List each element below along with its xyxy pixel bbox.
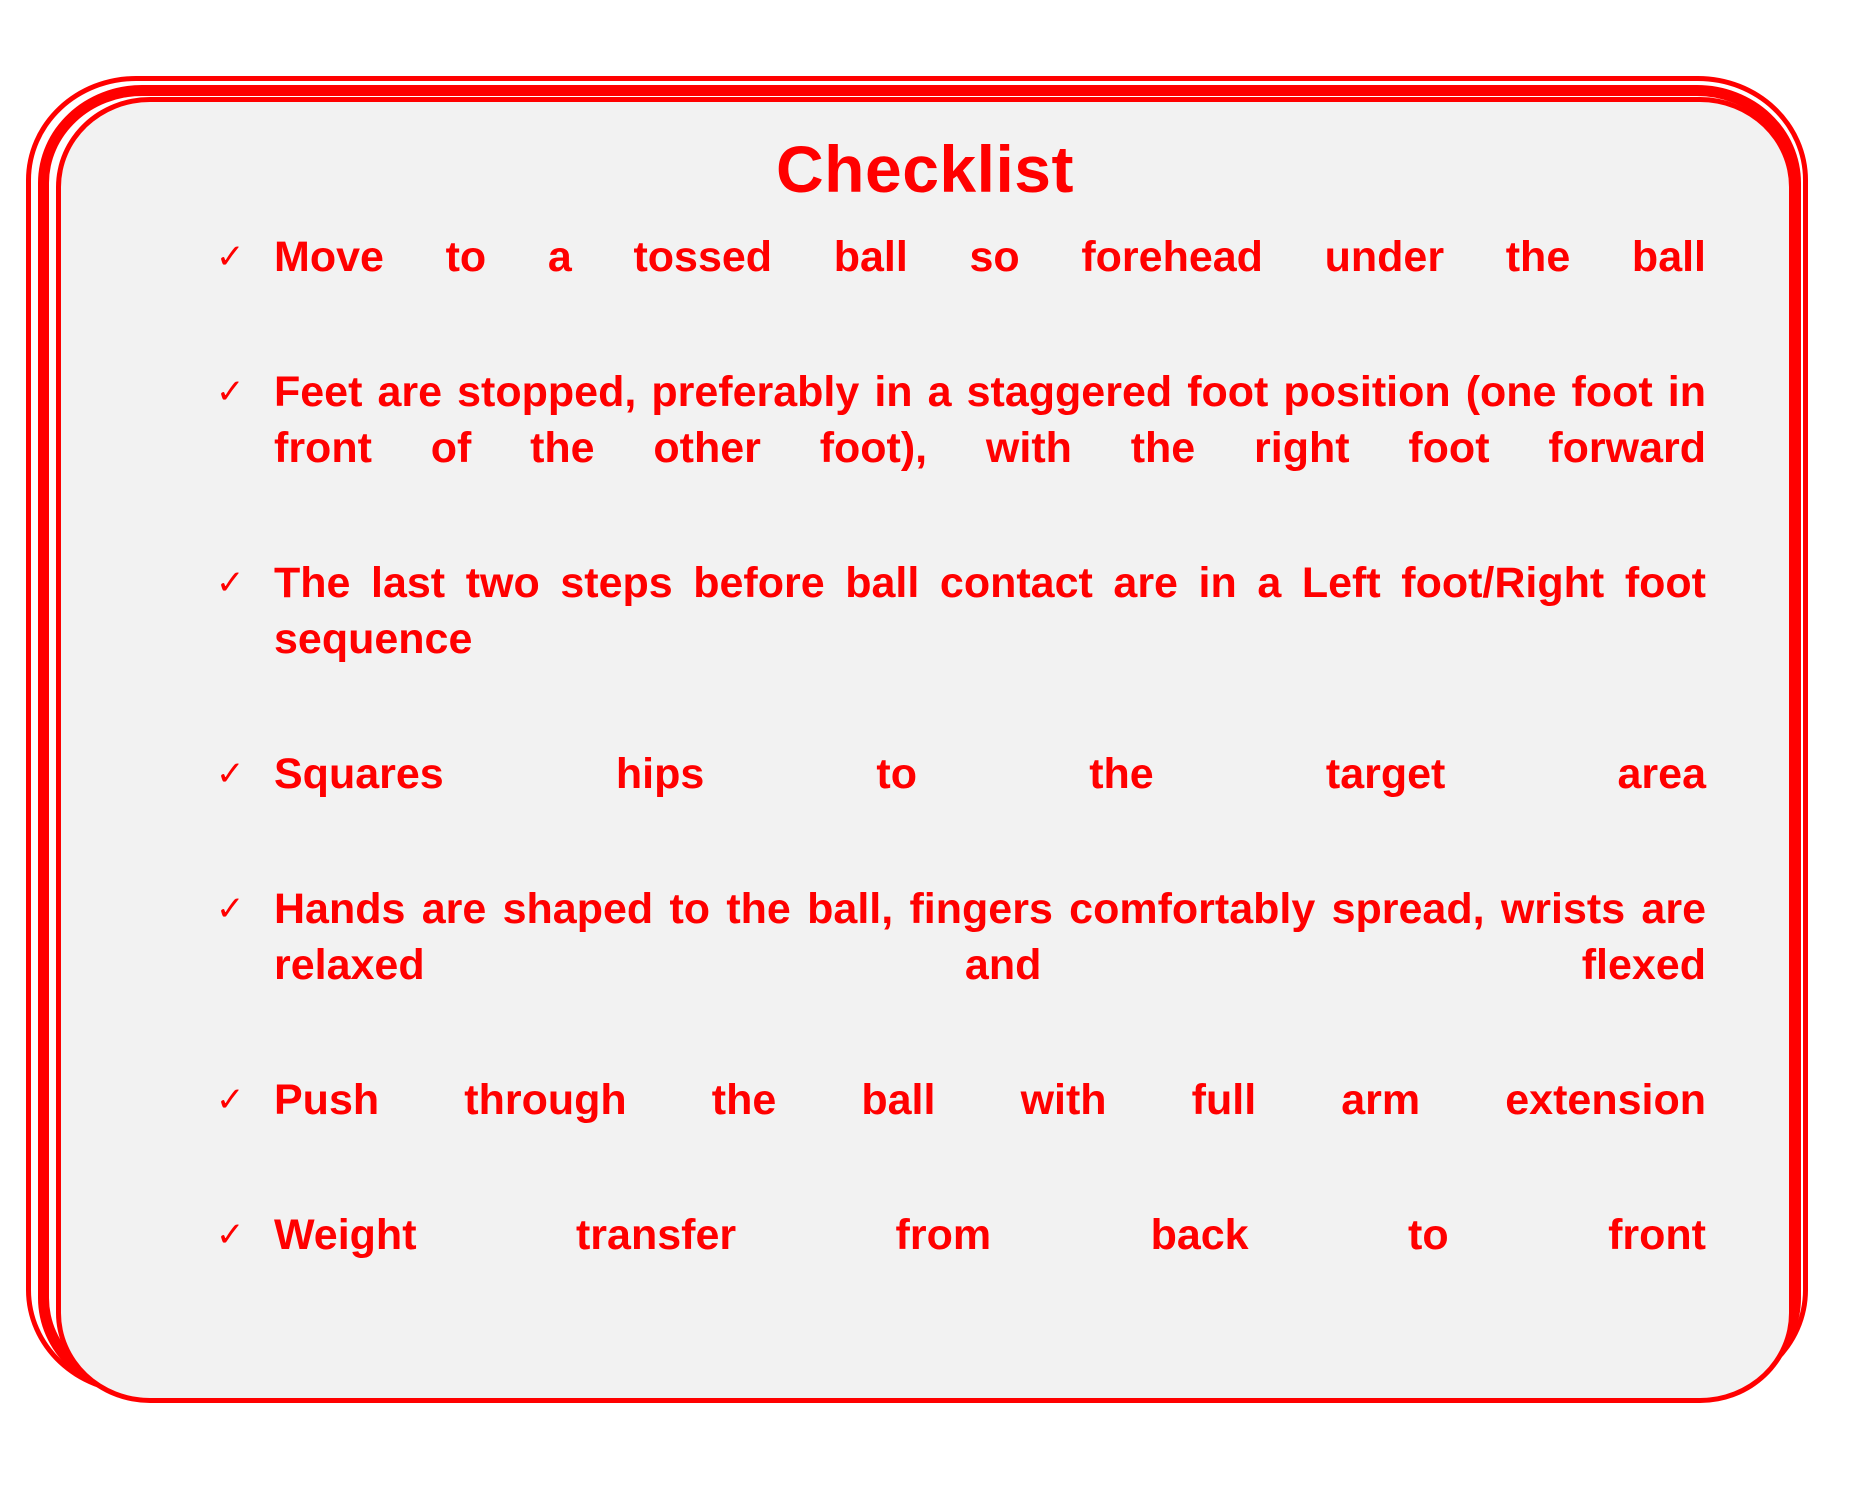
- page-title: Checklist: [118, 131, 1732, 207]
- check-icon: ✓: [216, 1207, 256, 1263]
- list-item: ✓ Move to a tossed ball so forehead unde…: [274, 229, 1706, 341]
- list-item: ✓ Hands are shaped to the ball, fingers …: [274, 881, 1706, 1049]
- check-icon: ✓: [216, 229, 256, 285]
- list-item-label: Feet are stopped, preferably in a stagge…: [274, 364, 1706, 532]
- slide-content: Checklist ✓ Move to a tossed ball so for…: [56, 97, 1794, 1403]
- list-item-label: Move to a tossed ball so forehead under …: [274, 229, 1706, 341]
- checklist: ✓ Move to a tossed ball so forehead unde…: [118, 229, 1732, 1319]
- list-item: ✓ Push through the ball with full arm ex…: [274, 1072, 1706, 1184]
- list-item: ✓ Weight transfer from back to front: [274, 1207, 1706, 1319]
- list-item: ✓ Feet are stopped, preferably in a stag…: [274, 364, 1706, 532]
- check-icon: ✓: [216, 555, 256, 611]
- list-item-label: Push through the ball with full arm exte…: [274, 1072, 1706, 1184]
- list-item-label: The last two steps before ball contact a…: [274, 555, 1706, 723]
- list-item: ✓ Squares hips to the target area: [274, 746, 1706, 858]
- check-icon: ✓: [216, 746, 256, 802]
- slide-canvas: Checklist ✓ Move to a tossed ball so for…: [0, 0, 1854, 1504]
- list-item: ✓ The last two steps before ball contact…: [274, 555, 1706, 723]
- list-item-label: Hands are shaped to the ball, fingers co…: [274, 881, 1706, 1049]
- check-icon: ✓: [216, 881, 256, 937]
- check-icon: ✓: [216, 1072, 256, 1128]
- list-item-label: Weight transfer from back to front: [274, 1207, 1706, 1319]
- list-item-label: Squares hips to the target area: [274, 746, 1706, 858]
- check-icon: ✓: [216, 364, 256, 420]
